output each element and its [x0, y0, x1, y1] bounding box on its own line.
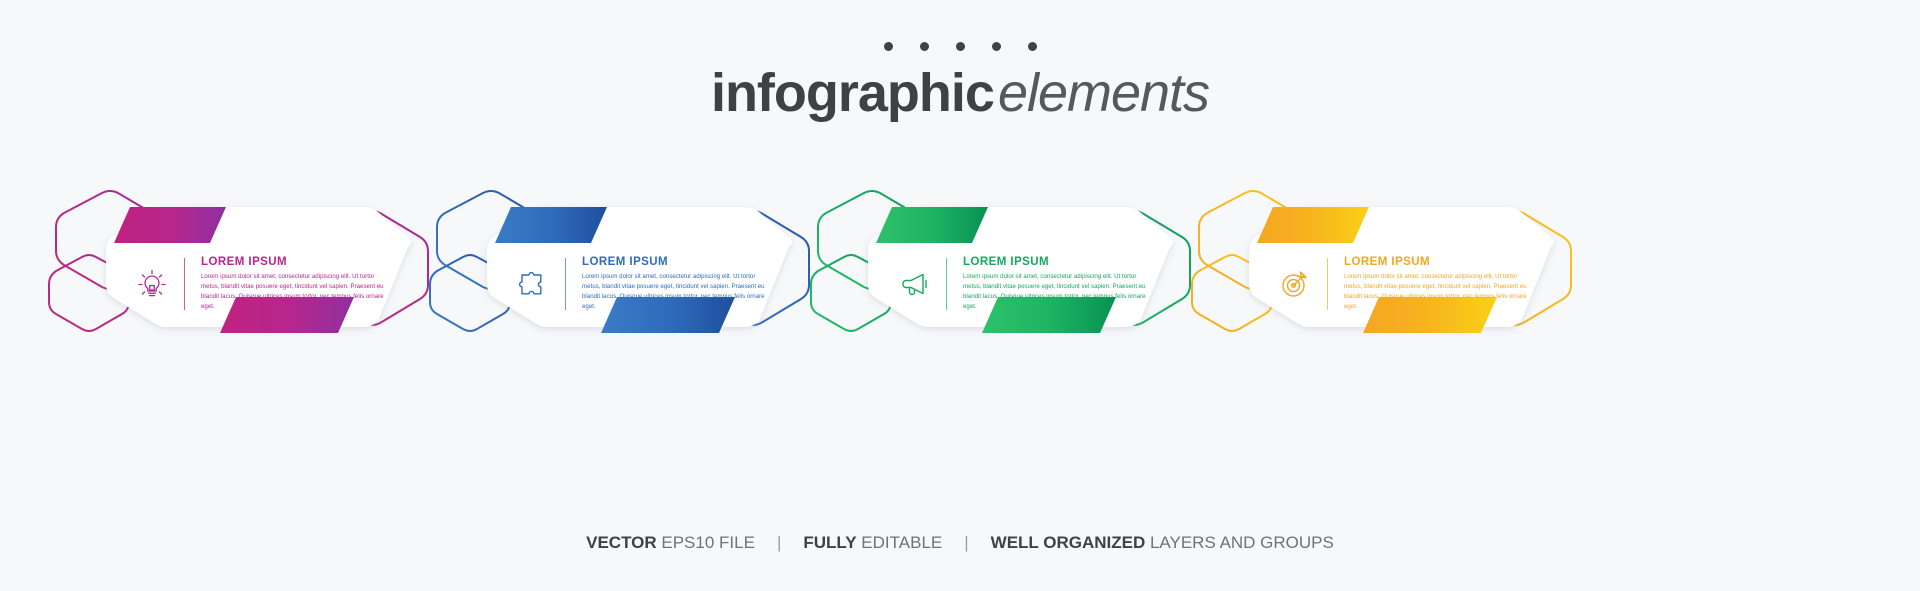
infographic-cards: LOREM IPSUM Lorem ipsum dolor sit amet, … — [0, 185, 1920, 360]
dot-icon — [920, 42, 929, 51]
dot-icon — [956, 42, 965, 51]
megaphone-icon — [892, 262, 936, 306]
card-text: LOREM IPSUM Lorem ipsum dolor sit amet, … — [957, 256, 1152, 311]
card-text: LOREM IPSUM Lorem ipsum dolor sit amet, … — [195, 256, 390, 311]
puzzle-icon — [511, 262, 555, 306]
lightbulb-icon — [130, 262, 174, 306]
card-text: LOREM IPSUM Lorem ipsum dolor sit amet, … — [576, 256, 771, 311]
content-divider — [946, 258, 947, 310]
title-bold: infographic — [711, 62, 994, 124]
card-content: LOREM IPSUM Lorem ipsum dolor sit amet, … — [1273, 243, 1533, 325]
content-divider — [1327, 258, 1328, 310]
footer-fully-rest: EDITABLE — [857, 533, 943, 552]
card-title: LOREM IPSUM — [201, 256, 390, 269]
footer-organized-bold: WELL ORGANIZED — [991, 533, 1146, 552]
footer-separator: | — [755, 533, 803, 553]
content-divider — [184, 258, 185, 310]
card-content: LOREM IPSUM Lorem ipsum dolor sit amet, … — [892, 243, 1152, 325]
content-divider — [565, 258, 566, 310]
footer-segment-organized: WELL ORGANIZED LAYERS AND GROUPS — [991, 533, 1334, 553]
banner-top — [114, 207, 226, 243]
banner-top — [876, 207, 988, 243]
footer-vector-bold: VECTOR — [586, 533, 657, 552]
card-body: Lorem ipsum dolor sit amet, consectetur … — [201, 272, 390, 311]
card-body: Lorem ipsum dolor sit amet, consectetur … — [1344, 272, 1533, 311]
dot-icon — [992, 42, 1001, 51]
target-icon — [1273, 262, 1317, 306]
header: infographic elements — [0, 0, 1920, 160]
card-text: LOREM IPSUM Lorem ipsum dolor sit amet, … — [1338, 256, 1533, 311]
footer-vector-rest: EPS10 FILE — [657, 533, 755, 552]
infographic-card[interactable]: LOREM IPSUM Lorem ipsum dolor sit amet, … — [34, 185, 464, 360]
card-title: LOREM IPSUM — [582, 256, 771, 269]
dot-icon — [884, 42, 893, 51]
page-title: infographic elements — [0, 62, 1920, 124]
footer-fully-bold: FULLY — [803, 533, 856, 552]
footer: VECTOR EPS10 FILE | FULLY EDITABLE | WEL… — [0, 533, 1920, 553]
decorative-dots — [0, 42, 1920, 51]
card-title: LOREM IPSUM — [1344, 256, 1533, 269]
title-light: elements — [998, 62, 1209, 124]
banner-top — [495, 207, 607, 243]
infographic-card[interactable]: LOREM IPSUM Lorem ipsum dolor sit amet, … — [1177, 185, 1607, 360]
infographic-card[interactable]: LOREM IPSUM Lorem ipsum dolor sit amet, … — [796, 185, 1226, 360]
footer-organized-rest: LAYERS AND GROUPS — [1145, 533, 1334, 552]
footer-segment-vector: VECTOR EPS10 FILE — [586, 533, 755, 553]
card-body: Lorem ipsum dolor sit amet, consectetur … — [582, 272, 771, 311]
dot-icon — [1028, 42, 1037, 51]
footer-segment-fully: FULLY EDITABLE — [803, 533, 942, 553]
card-body: Lorem ipsum dolor sit amet, consectetur … — [963, 272, 1152, 311]
banner-top — [1257, 207, 1369, 243]
footer-separator: | — [942, 533, 990, 553]
card-content: LOREM IPSUM Lorem ipsum dolor sit amet, … — [130, 243, 390, 325]
infographic-card[interactable]: LOREM IPSUM Lorem ipsum dolor sit amet, … — [415, 185, 845, 360]
card-content: LOREM IPSUM Lorem ipsum dolor sit amet, … — [511, 243, 771, 325]
card-title: LOREM IPSUM — [963, 256, 1152, 269]
